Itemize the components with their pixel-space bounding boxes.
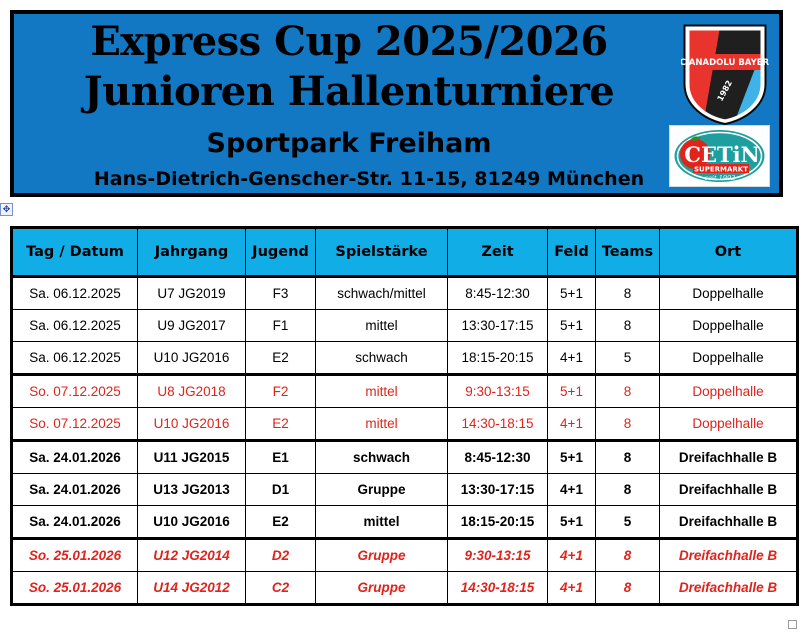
table-cell: Sa. 06.12.2025: [12, 310, 138, 342]
table-cell: Sa. 24.01.2026: [12, 474, 138, 506]
column-header-ort: Ort: [660, 228, 798, 277]
table-header-row: Tag / Datum Jahrgang Jugend Spielstärke …: [12, 228, 798, 277]
sponsor-name: CETiN: [684, 142, 760, 167]
table-cell: 5: [596, 342, 660, 375]
event-banner: Express Cup 2025/2026 Junioren Hallentur…: [10, 10, 783, 197]
table-cell: 8: [596, 408, 660, 441]
move-arrows-icon[interactable]: ✥: [0, 203, 13, 216]
table-row: Sa. 24.01.2026U11 JG2015E1schwach8:45-12…: [12, 441, 798, 474]
table-cell: F1: [246, 310, 316, 342]
table-cell: 5: [596, 506, 660, 539]
table-cell: 8: [596, 572, 660, 605]
table-cell: U8 JG2018: [138, 375, 246, 408]
banner-title-block: Express Cup 2025/2026 Junioren Hallentur…: [14, 14, 779, 190]
table-cell: U10 JG2016: [138, 342, 246, 375]
table-cell: U10 JG2016: [138, 408, 246, 441]
table-cell: 14:30-18:15: [448, 572, 548, 605]
table-cell: D2: [246, 539, 316, 572]
table-cell: Dreifachhalle B: [660, 441, 798, 474]
table-row: So. 25.01.2026U14 JG2012C2Gruppe14:30-18…: [12, 572, 798, 605]
column-header-zeit: Zeit: [448, 228, 548, 277]
table-cell: U13 JG2013: [138, 474, 246, 506]
table-cell: U10 JG2016: [138, 506, 246, 539]
table-cell: Doppelhalle: [660, 277, 798, 310]
table-cell: 8: [596, 474, 660, 506]
table-cell: Gruppe: [316, 572, 448, 605]
table-cell: So. 25.01.2026: [12, 572, 138, 605]
table-cell: Sa. 24.01.2026: [12, 506, 138, 539]
table-cell: Doppelhalle: [660, 375, 798, 408]
table-cell: 14:30-18:15: [448, 408, 548, 441]
table-cell: F3: [246, 277, 316, 310]
event-address: Hans-Dietrich-Genscher-Str. 11-15, 81249…: [0, 168, 779, 190]
table-cell: U14 JG2012: [138, 572, 246, 605]
event-venue: Sportpark Freiham: [0, 128, 779, 159]
table-cell: 8: [596, 441, 660, 474]
table-cell: 18:15-20:15: [448, 506, 548, 539]
table-cell: 5+1: [548, 441, 596, 474]
table-cell: 8: [596, 277, 660, 310]
supermarket-logo-icon: CETiN SUPERMARKT seit 1992: [669, 125, 770, 187]
table-cell: So. 07.12.2025: [12, 408, 138, 441]
table-cell: E1: [246, 441, 316, 474]
table-cell: mittel: [316, 408, 448, 441]
table-cell: 5+1: [548, 506, 596, 539]
table-cell: U9 JG2017: [138, 310, 246, 342]
table-row: Sa. 24.01.2026U10 JG2016E2mittel18:15-20…: [12, 506, 798, 539]
table-cell: Dreifachhalle B: [660, 539, 798, 572]
table-cell: 9:30-13:15: [448, 375, 548, 408]
table-cell: 8: [596, 375, 660, 408]
table-cell: 5+1: [548, 277, 596, 310]
table-cell: Sa. 24.01.2026: [12, 441, 138, 474]
table-cell: schwach: [316, 342, 448, 375]
table-cell: 5+1: [548, 375, 596, 408]
table-cell: U12 JG2014: [138, 539, 246, 572]
table-cell: 8: [596, 310, 660, 342]
column-header-teams: Teams: [596, 228, 660, 277]
table-cell: Doppelhalle: [660, 408, 798, 441]
table-cell: 4+1: [548, 342, 596, 375]
table-cell: Gruppe: [316, 474, 448, 506]
table-cell: mittel: [316, 375, 448, 408]
table-cell: So. 25.01.2026: [12, 539, 138, 572]
table-cell: E2: [246, 342, 316, 375]
table-cell: mittel: [316, 506, 448, 539]
table-cell: 13:30-17:15: [448, 310, 548, 342]
table-cell: 4+1: [548, 539, 596, 572]
table-cell: D1: [246, 474, 316, 506]
schedule-table-wrapper: Tag / Datum Jahrgang Jugend Spielstärke …: [10, 226, 796, 606]
table-header: Tag / Datum Jahrgang Jugend Spielstärke …: [12, 228, 798, 277]
table-cell: 18:15-20:15: [448, 342, 548, 375]
table-row: Sa. 24.01.2026U13 JG2013D1Gruppe13:30-17…: [12, 474, 798, 506]
table-cell: C2: [246, 572, 316, 605]
table-cell: U7 JG2019: [138, 277, 246, 310]
club-crest-shield-icon: FC ANADOLU BAYERN 1982: [681, 22, 769, 126]
table-cell: So. 07.12.2025: [12, 375, 138, 408]
resize-grip-icon[interactable]: [788, 620, 797, 629]
table-cell: Doppelhalle: [660, 342, 798, 375]
sponsor-subtitle: SUPERMARKT: [694, 166, 748, 174]
table-body: Sa. 06.12.2025U7 JG2019F3schwach/mittel8…: [12, 277, 798, 605]
column-header-jugend: Jugend: [246, 228, 316, 277]
table-cell: 8: [596, 539, 660, 572]
table-cell: 4+1: [548, 474, 596, 506]
sponsor-tagline: seit 1992: [705, 174, 735, 182]
table-cell: Dreifachhalle B: [660, 474, 798, 506]
table-cell: F2: [246, 375, 316, 408]
tournament-schedule-table: Tag / Datum Jahrgang Jugend Spielstärke …: [10, 226, 799, 606]
table-cell: Sa. 06.12.2025: [12, 277, 138, 310]
event-title-line2: Junioren Hallenturniere: [0, 72, 779, 112]
table-cell: 8:45-12:30: [448, 277, 548, 310]
column-header-jahrgang: Jahrgang: [138, 228, 246, 277]
table-cell: Dreifachhalle B: [660, 572, 798, 605]
event-title-line1: Express Cup 2025/2026: [0, 22, 779, 62]
table-cell: 4+1: [548, 408, 596, 441]
table-cell: Sa. 06.12.2025: [12, 342, 138, 375]
table-cell: E2: [246, 506, 316, 539]
table-cell: 9:30-13:15: [448, 539, 548, 572]
club-crest-name: FC ANADOLU BAYERN: [681, 58, 769, 68]
table-cell: Gruppe: [316, 539, 448, 572]
column-header-spielstaerke: Spielstärke: [316, 228, 448, 277]
table-cell: U11 JG2015: [138, 441, 246, 474]
table-cell: 8:45-12:30: [448, 441, 548, 474]
table-row: Sa. 06.12.2025U9 JG2017F1mittel13:30-17:…: [12, 310, 798, 342]
table-cell: 5+1: [548, 310, 596, 342]
table-cell: 13:30-17:15: [448, 474, 548, 506]
table-cell: Doppelhalle: [660, 310, 798, 342]
column-header-feld: Feld: [548, 228, 596, 277]
table-row: So. 25.01.2026U12 JG2014D2Gruppe9:30-13:…: [12, 539, 798, 572]
table-cell: schwach/mittel: [316, 277, 448, 310]
table-cell: Dreifachhalle B: [660, 506, 798, 539]
column-header-tag-datum: Tag / Datum: [12, 228, 138, 277]
table-cell: E2: [246, 408, 316, 441]
table-row: Sa. 06.12.2025U10 JG2016E2schwach18:15-2…: [12, 342, 798, 375]
table-row: So. 07.12.2025U8 JG2018F2mittel9:30-13:1…: [12, 375, 798, 408]
table-row: Sa. 06.12.2025U7 JG2019F3schwach/mittel8…: [12, 277, 798, 310]
table-row: So. 07.12.2025U10 JG2016E2mittel14:30-18…: [12, 408, 798, 441]
table-cell: 4+1: [548, 572, 596, 605]
table-cell: mittel: [316, 310, 448, 342]
table-cell: schwach: [316, 441, 448, 474]
